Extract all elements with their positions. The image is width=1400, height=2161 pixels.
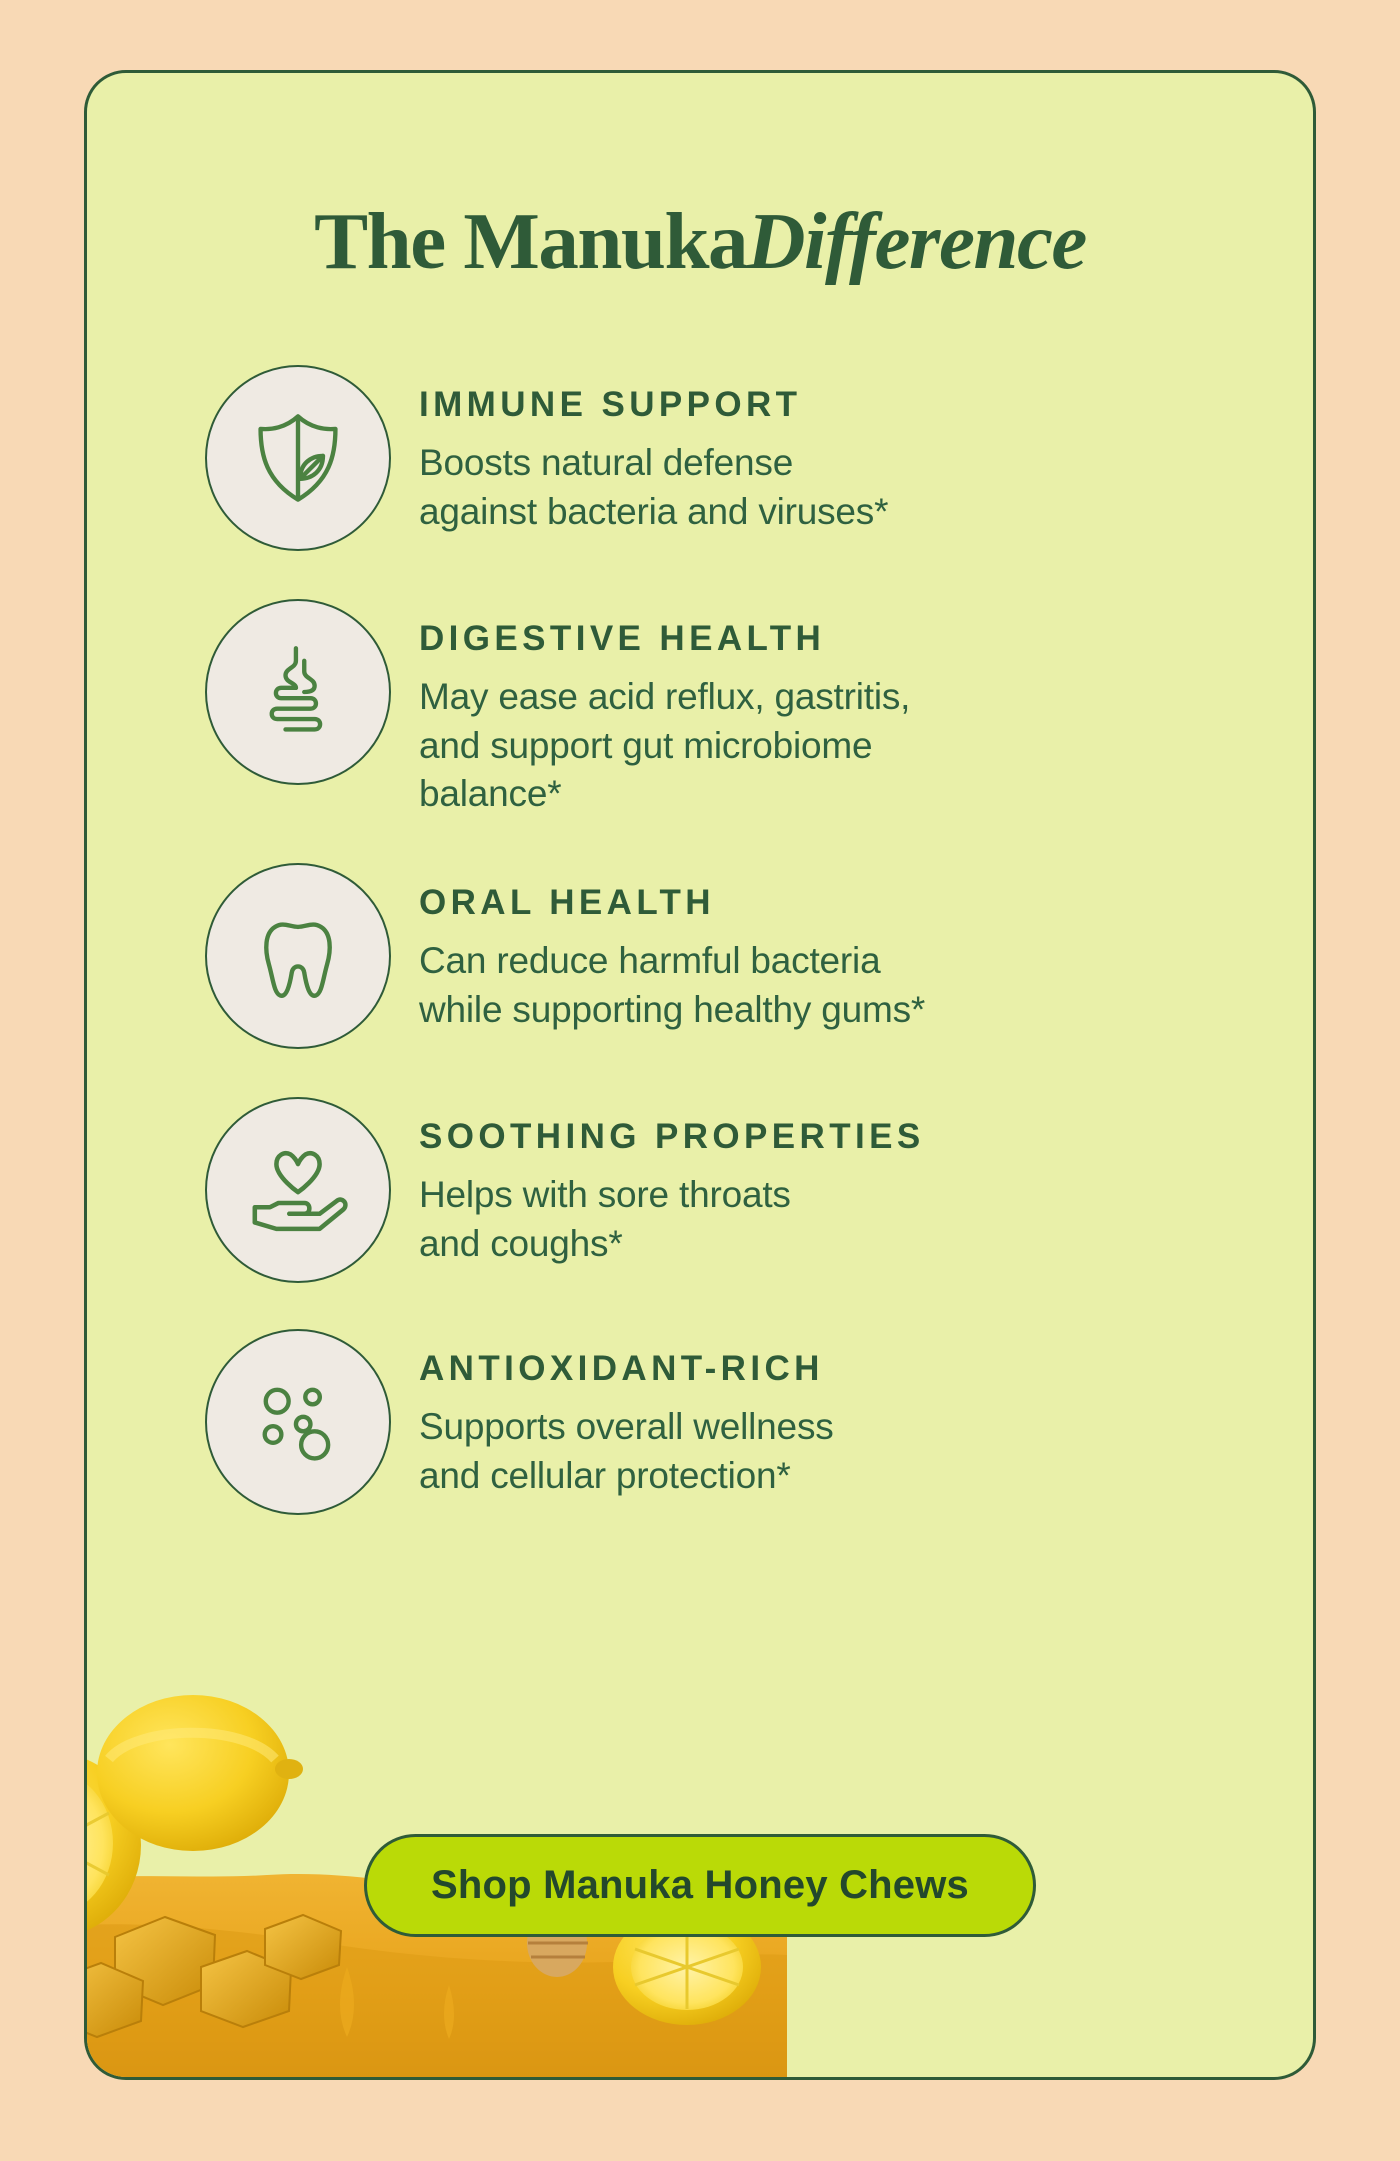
feature-list: IMMUNE SUPPORT Boosts natural defense ag… [205, 365, 1235, 1515]
feature-heading: DIGESTIVE HEALTH [419, 621, 910, 658]
feature-body: Supports overall wellness and cellular p… [419, 1403, 834, 1501]
tooth-icon [205, 863, 391, 1049]
feature-heading: IMMUNE SUPPORT [419, 387, 888, 424]
feature-heading: ANTIOXIDANT-RICH [419, 1351, 834, 1388]
feature-item-immune-support: IMMUNE SUPPORT Boosts natural defense ag… [205, 365, 1235, 551]
feature-item-soothing-properties: SOOTHING PROPERTIES Helps with sore thro… [205, 1097, 1235, 1283]
feature-text: ANTIOXIDANT-RICH Supports overall wellne… [419, 1329, 834, 1500]
feature-item-digestive-health: DIGESTIVE HEALTH May ease acid reflux, g… [205, 599, 1235, 819]
feature-text: DIGESTIVE HEALTH May ease acid reflux, g… [419, 599, 910, 819]
feature-text: SOOTHING PROPERTIES Helps with sore thro… [419, 1097, 925, 1268]
feature-item-oral-health: ORAL HEALTH Can reduce harmful bacteria … [205, 863, 1235, 1049]
heart-in-hand-icon [205, 1097, 391, 1283]
feature-text: IMMUNE SUPPORT Boosts natural defense ag… [419, 365, 888, 536]
feature-body: Boosts natural defense against bacteria … [419, 439, 888, 537]
feature-heading: ORAL HEALTH [419, 885, 925, 922]
page-title-regular: The Manuka [314, 196, 747, 286]
shield-leaf-icon [205, 365, 391, 551]
feature-text: ORAL HEALTH Can reduce harmful bacteria … [419, 863, 925, 1034]
feature-heading: SOOTHING PROPERTIES [419, 1119, 925, 1156]
manuka-difference-card: The ManukaDifference IMMUNE SUPPORT Boos… [84, 70, 1316, 2080]
molecules-dots-icon [205, 1329, 391, 1515]
page-title-italic: Difference [747, 196, 1086, 286]
feature-body: May ease acid reflux, gastritis, and sup… [419, 673, 910, 819]
feature-body: Helps with sore throats and coughs* [419, 1171, 925, 1269]
page-title: The ManukaDifference [87, 201, 1313, 282]
feature-body: Can reduce harmful bacteria while suppor… [419, 937, 925, 1035]
feature-item-antioxidant-rich: ANTIOXIDANT-RICH Supports overall wellne… [205, 1329, 1235, 1515]
cta-container: Shop Manuka Honey Chews [87, 1834, 1313, 1937]
shop-manuka-honey-chews-button[interactable]: Shop Manuka Honey Chews [364, 1834, 1036, 1937]
intestine-icon [205, 599, 391, 785]
